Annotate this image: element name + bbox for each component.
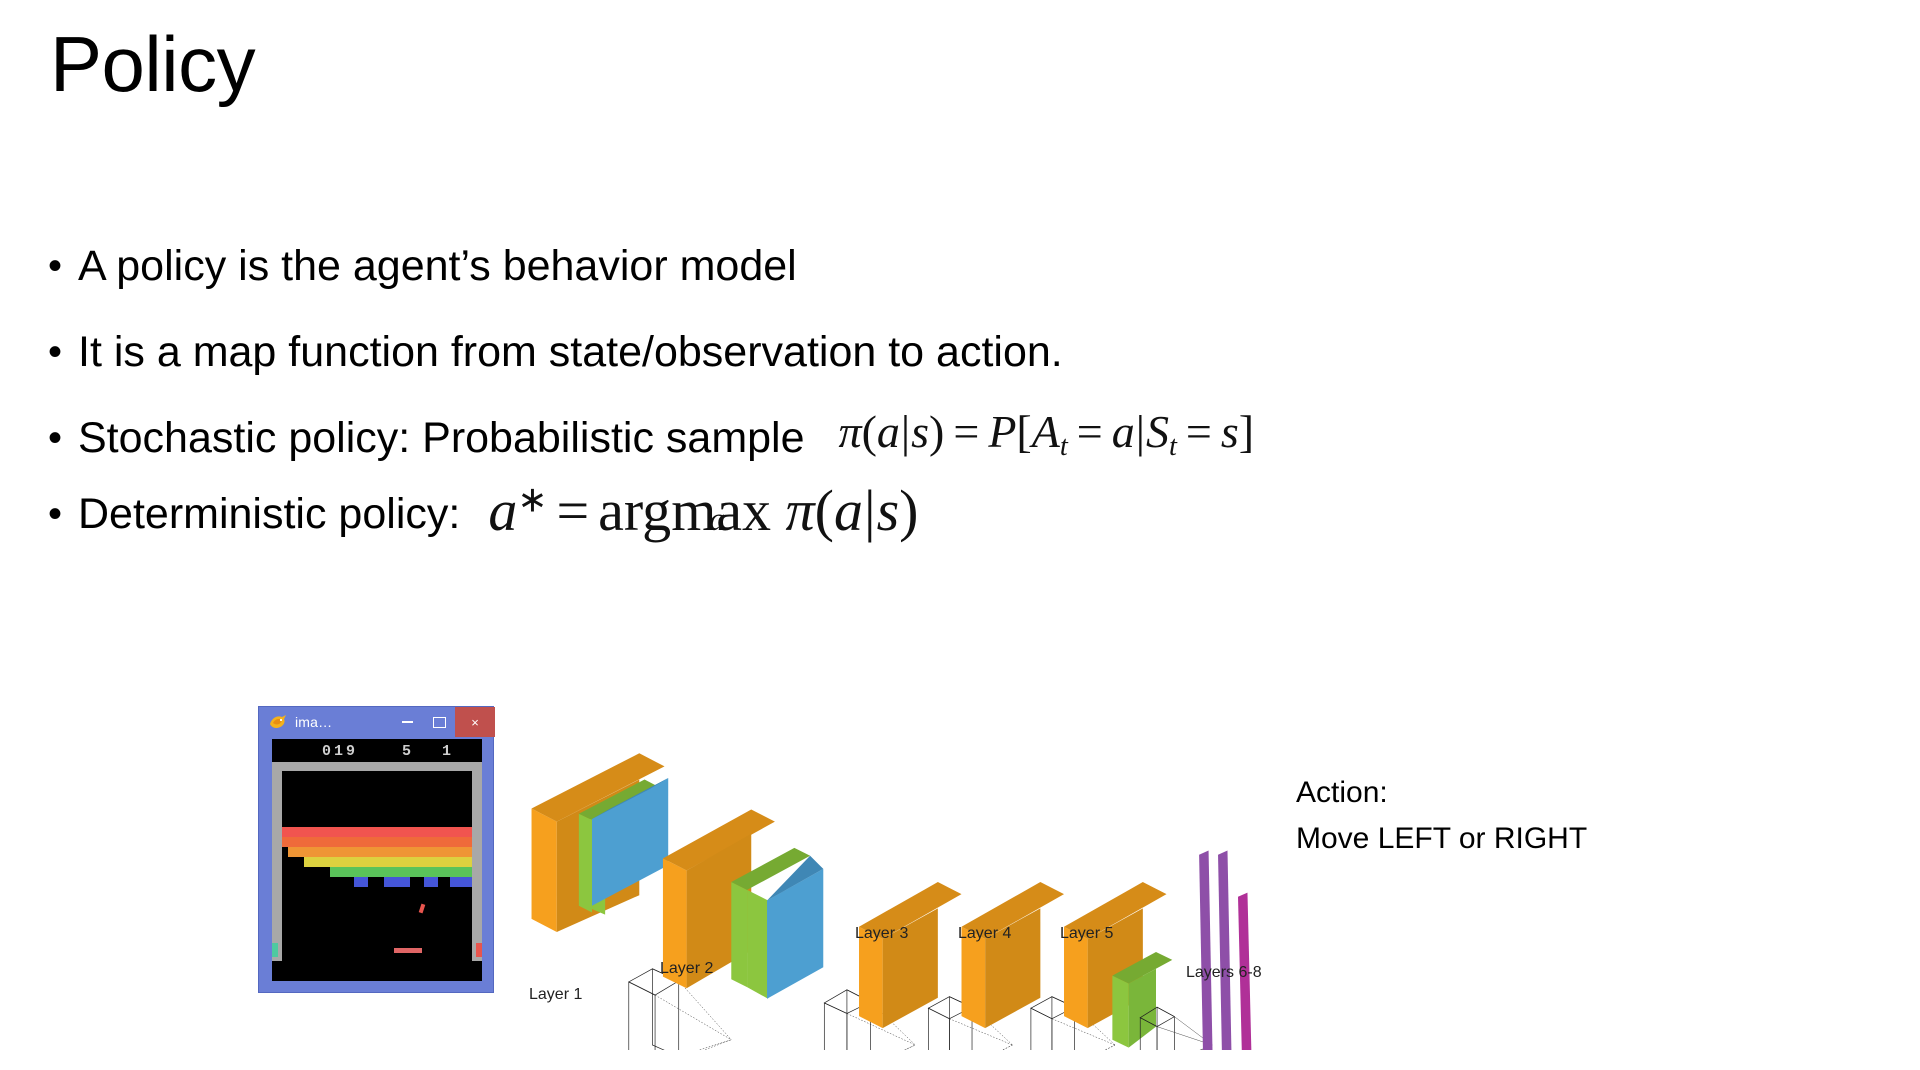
brick-row-yellow bbox=[282, 857, 472, 867]
kernel-1-rays bbox=[655, 981, 731, 1050]
game-window[interactable]: ima… × 019 5 1 bbox=[258, 706, 494, 993]
playfield-bottom-band bbox=[272, 961, 482, 981]
brick-gap bbox=[368, 877, 384, 889]
equals-sign-2: = bbox=[1068, 406, 1112, 457]
pi-symbol: π bbox=[786, 478, 815, 543]
layer-label-1: Layer 1 bbox=[529, 986, 582, 1004]
layer-label-4: Layer 4 bbox=[958, 925, 1011, 943]
close-icon[interactable]: × bbox=[455, 707, 495, 737]
bracket-close: ] bbox=[1239, 406, 1254, 457]
layer-label-6-8: Layers 6-8 bbox=[1186, 964, 1262, 982]
score-lives: 5 bbox=[402, 743, 414, 760]
layer-label-2: Layer 2 bbox=[660, 960, 713, 978]
given-bar-2: | bbox=[1135, 406, 1146, 457]
bullet-marker: • bbox=[48, 321, 78, 383]
var-a: a bbox=[834, 478, 863, 543]
layers-6-8-block bbox=[1199, 851, 1255, 1050]
var-s-2: s bbox=[1221, 406, 1239, 457]
var-s: s bbox=[911, 406, 929, 457]
bullet-text-3: Stochastic policy: Probabilistic sample bbox=[78, 407, 805, 469]
layer-5-block bbox=[1064, 882, 1172, 1048]
cnn-svg bbox=[500, 630, 1320, 1050]
var-a-star-base: a bbox=[488, 478, 517, 543]
arg-operator: arg bbox=[598, 478, 671, 543]
paddle bbox=[394, 948, 422, 953]
layer-label-3: Layer 3 bbox=[855, 925, 908, 943]
bullet-marker: • bbox=[48, 235, 78, 297]
game-screen: 019 5 1 bbox=[272, 739, 482, 981]
layer-4-block bbox=[962, 882, 1065, 1028]
maximize-icon[interactable] bbox=[423, 707, 455, 737]
list-item: • Deterministic policy: a∗=argmaxa π(a|s… bbox=[48, 483, 1898, 559]
minimize-icon[interactable] bbox=[391, 707, 423, 737]
equals-sign: = bbox=[547, 478, 598, 543]
paren-close: ) bbox=[929, 406, 944, 457]
window-title: ima… bbox=[295, 714, 332, 730]
var-A: A bbox=[1032, 406, 1060, 457]
bullet-text-2: It is a map function from state/observat… bbox=[78, 321, 1063, 383]
subscript-t-2: t bbox=[1169, 431, 1177, 462]
layer-1-block bbox=[532, 753, 669, 932]
bullet-text-4: Deterministic policy: bbox=[78, 483, 460, 545]
cnn-architecture-diagram: Layer 1 Layer 2 Layer 3 Layer 4 Layer 5 … bbox=[500, 630, 1320, 1050]
max-subscript-a: a bbox=[709, 502, 725, 539]
window-controls: × bbox=[391, 707, 495, 737]
list-item: • Stochastic policy: Probabilistic sampl… bbox=[48, 407, 1898, 483]
given-bar: | bbox=[863, 478, 877, 543]
star-superscript: ∗ bbox=[517, 479, 547, 519]
formula-stochastic-policy: π(a|s)=P[At=a|St=s] bbox=[839, 405, 1255, 463]
score-level: 1 bbox=[442, 743, 454, 760]
brick-gap bbox=[282, 877, 354, 891]
ball bbox=[419, 904, 426, 914]
bullet-list: • A policy is the agent’s behavior model… bbox=[48, 235, 1898, 559]
subscript-t-1: t bbox=[1060, 431, 1068, 462]
list-item: • It is a map function from state/observ… bbox=[48, 321, 1898, 407]
paren-open: ( bbox=[815, 478, 834, 543]
layer-3-block bbox=[859, 882, 962, 1028]
brick-row-red bbox=[282, 827, 472, 837]
window-titlebar[interactable]: ima… × bbox=[259, 707, 495, 737]
brick-gap bbox=[438, 877, 450, 889]
bullet-marker: • bbox=[48, 407, 78, 469]
bullet-text-1: A policy is the agent’s behavior model bbox=[78, 235, 797, 297]
var-s: s bbox=[877, 478, 900, 543]
slide-canvas: Policy • A policy is the agent’s behavio… bbox=[0, 0, 1920, 1070]
kernel-1 bbox=[629, 969, 679, 1050]
action-caption: Action: Move LEFT or RIGHT bbox=[1296, 770, 1587, 862]
given-bar: | bbox=[900, 406, 911, 457]
playfield-inner bbox=[282, 771, 472, 961]
score-points: 019 bbox=[322, 743, 358, 760]
var-a: a bbox=[877, 406, 900, 457]
paren-open: ( bbox=[862, 406, 877, 457]
equals-sign: = bbox=[944, 406, 988, 457]
equals-sign-3: = bbox=[1177, 406, 1221, 457]
brick-gap bbox=[410, 877, 424, 889]
left-edge-marker bbox=[272, 943, 278, 957]
prob-P: P bbox=[988, 406, 1016, 457]
right-edge-marker bbox=[476, 943, 482, 957]
bullet-marker: • bbox=[48, 483, 78, 545]
formula-deterministic-policy: a∗=argmaxa π(a|s) bbox=[488, 477, 918, 544]
score-bar: 019 5 1 bbox=[272, 739, 482, 762]
bracket-open: [ bbox=[1016, 406, 1031, 457]
page-title: Policy bbox=[50, 24, 255, 106]
var-a-2: a bbox=[1112, 406, 1135, 457]
layer-label-5: Layer 5 bbox=[1060, 925, 1113, 943]
brick-row-orange-red bbox=[282, 837, 472, 847]
action-caption-line-1: Action: bbox=[1296, 770, 1587, 816]
var-S: S bbox=[1146, 406, 1169, 457]
max-operator-group: maxa bbox=[671, 477, 771, 544]
paren-close: ) bbox=[899, 478, 918, 543]
action-caption-line-2: Move LEFT or RIGHT bbox=[1296, 816, 1587, 862]
app-icon bbox=[267, 712, 289, 732]
brick-row-orange bbox=[282, 847, 472, 857]
playfield bbox=[272, 762, 482, 981]
pi-symbol: π bbox=[839, 406, 862, 457]
list-item: • A policy is the agent’s behavior model bbox=[48, 235, 1898, 321]
